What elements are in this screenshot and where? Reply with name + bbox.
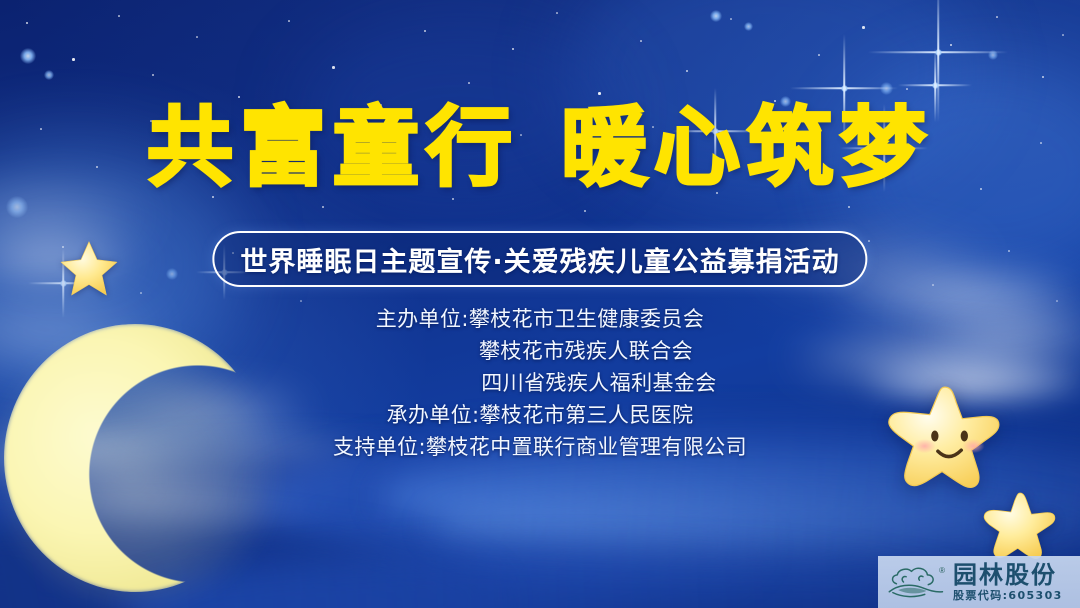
organizer-list: 主办单位:攀枝花市卫生健康委员会 攀枝花市残疾人联合会 四川省残疾人福利基金会 … [0, 303, 1080, 463]
sponsor-logo: ® 园林股份 股票代码:605303 [878, 556, 1080, 608]
organizer-line: 支持单位:攀枝花中置联行商业管理有限公司 [0, 431, 1080, 463]
star-icon [58, 238, 120, 300]
logo-text-block: 园林股份 股票代码:605303 [953, 563, 1063, 601]
logo-company-name: 园林股份 [953, 563, 1063, 587]
headline-part-1: 共富童行 [147, 98, 519, 198]
organizer-line: 四川省残疾人福利基金会 [0, 367, 1080, 399]
organizer-line: 主办单位:攀枝花市卫生健康委员会 [0, 303, 1080, 335]
subtitle-text: 世界睡眠日主题宣传·关爱残疾儿童公益募捐活动 [240, 240, 839, 279]
organizer-line: 承办单位:攀枝花市第三人民医院 [0, 399, 1080, 431]
tree-landscape-icon: ® [884, 562, 946, 602]
organizer-line: 攀枝花市残疾人联合会 [0, 335, 1080, 367]
subtitle-pill: 世界睡眠日主题宣传·关爱残疾儿童公益募捐活动 [212, 231, 867, 287]
page-title: 共富童行暖心筑梦 [0, 105, 1080, 191]
star-icon [982, 490, 1058, 562]
logo-stock-code: 股票代码:605303 [953, 590, 1063, 601]
registered-mark: ® [939, 566, 945, 575]
poster-canvas: 共富童行暖心筑梦 世界睡眠日主题宣传·关爱残疾儿童公益募捐活动 主办单位:攀枝花… [0, 0, 1080, 608]
headline-part-2: 暖心筑梦 [561, 98, 933, 198]
